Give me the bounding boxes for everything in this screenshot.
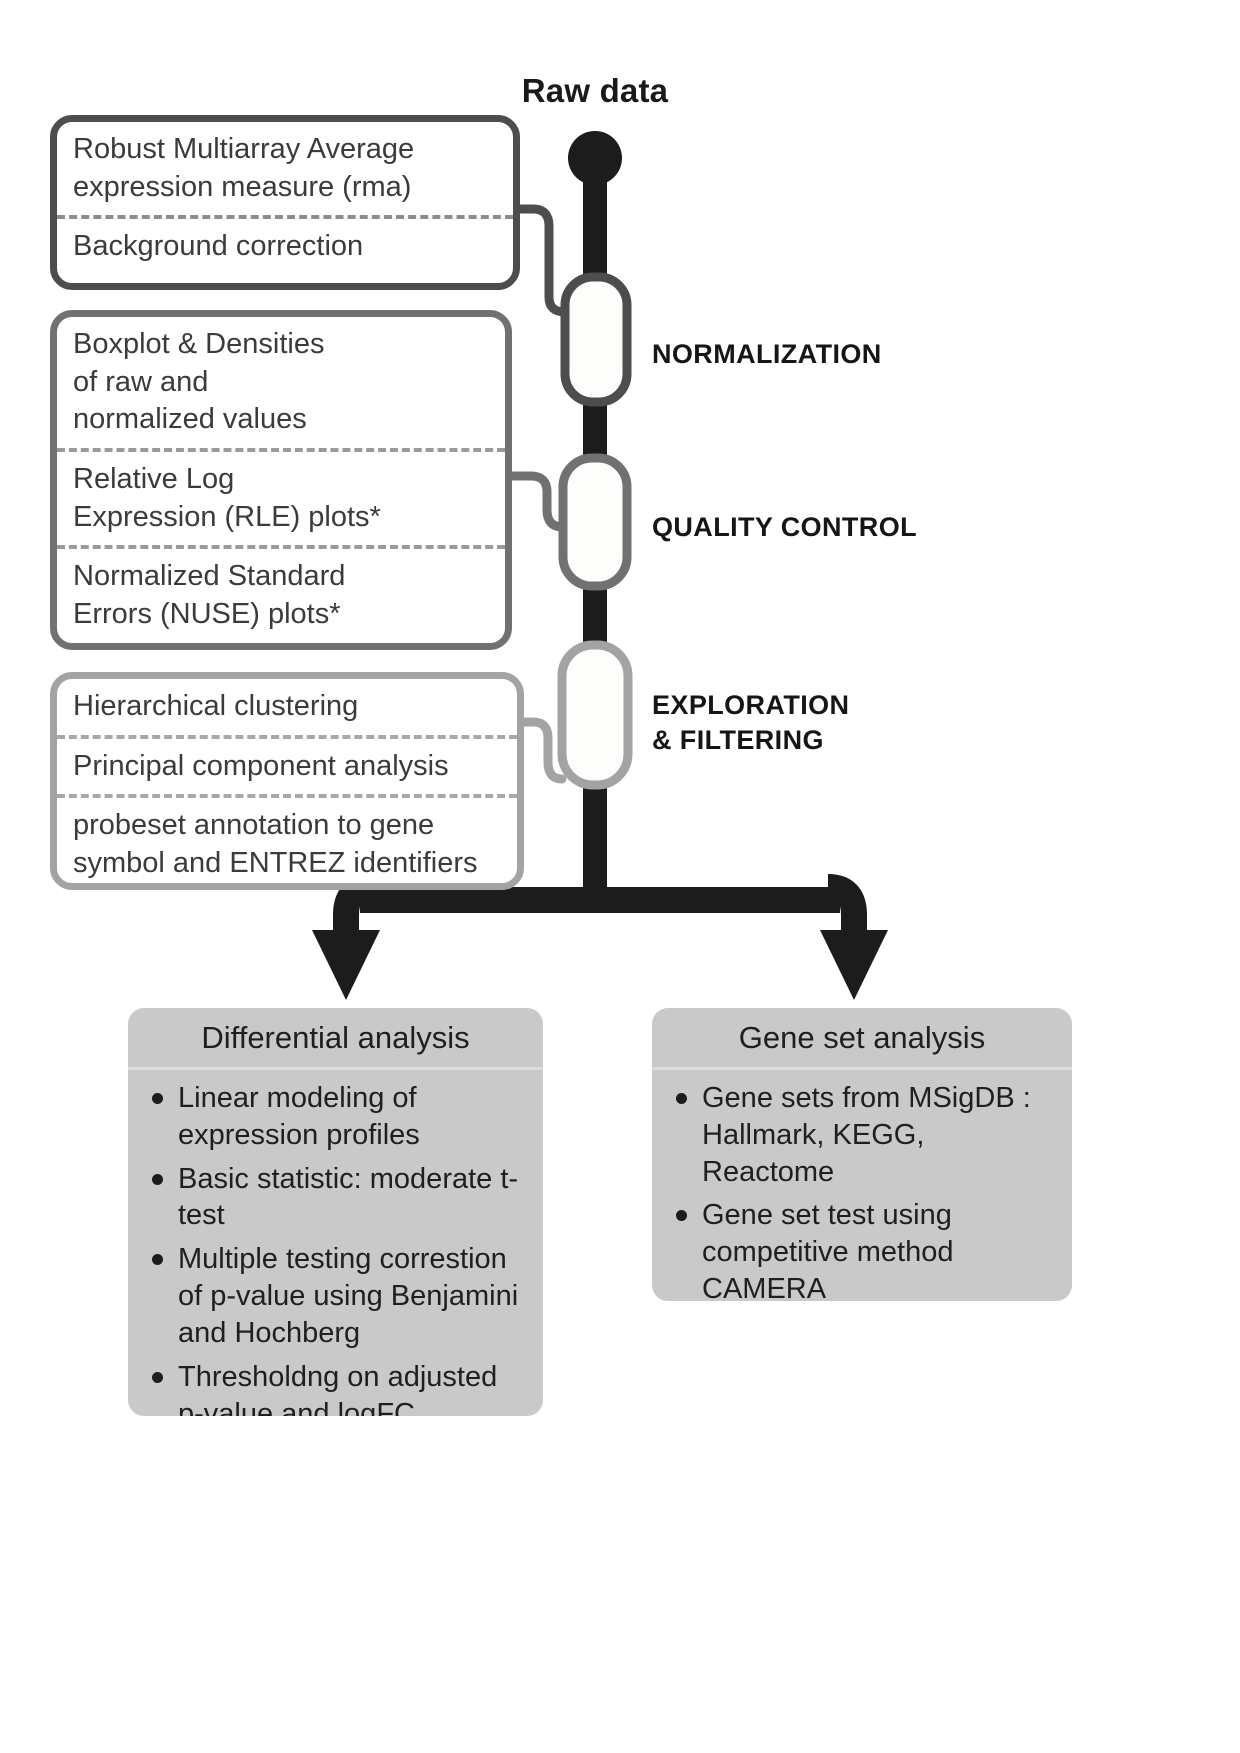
detail-row-background-correction: Background correction: [57, 215, 513, 275]
list-item-text: Multiple testing correstion of p-value u…: [178, 1241, 527, 1351]
bullet-icon: [152, 1254, 163, 1265]
list-item-text: Gene sets from MSigDB : Hallmark, KEGG, …: [702, 1080, 1056, 1190]
detail-row-nuse-line1: Normalized Standard: [73, 558, 491, 596]
connector-exploration: [520, 722, 562, 779]
list-item-text: Gene set test using competitive method C…: [702, 1197, 1056, 1301]
detail-row-pca: Principal component analysis: [57, 735, 517, 795]
detail-row-probeset-annotation: probeset annotation to gene symbol and E…: [57, 794, 517, 891]
connector-quality-control: [512, 476, 563, 527]
detail-box-quality-control: Boxplot & Densities of raw and normalize…: [50, 310, 512, 650]
detail-row-boxplot-line1: Boxplot & Densities: [73, 326, 491, 364]
bullet-icon: [676, 1093, 687, 1104]
list-item-text: Linear modeling of expression profiles: [178, 1080, 527, 1154]
detail-row-nuse-plots: Normalized Standard Errors (NUSE) plots*: [57, 545, 505, 642]
bullet-icon: [152, 1093, 163, 1104]
detail-row-rma: Robust Multiarray Average expression mea…: [57, 122, 513, 215]
detail-row-rle-line2: Expression (RLE) plots*: [73, 499, 491, 537]
arrow-head-differential: [312, 930, 380, 1000]
detail-row-rle-plots: Relative Log Expression (RLE) plots*: [57, 448, 505, 545]
detail-row-probeset-line2: symbol and ENTREZ identifiers: [73, 845, 503, 883]
list-item: Gene sets from MSigDB : Hallmark, KEGG, …: [672, 1080, 1056, 1190]
result-panel-geneset-title: Gene set analysis: [652, 1008, 1072, 1070]
detail-row-background-correction-line1: Background correction: [73, 228, 499, 266]
detail-row-hclust-line1: Hierarchical clustering: [73, 688, 503, 726]
stage-capsule-normalization: [565, 277, 627, 402]
list-item: Linear modeling of expression profiles: [148, 1080, 527, 1154]
detail-row-rma-line1: Robust Multiarray Average: [73, 131, 499, 169]
stage-label-exploration-line2: & FILTERING: [652, 723, 849, 758]
result-panel-differential-analysis: Differential analysis Linear modeling of…: [128, 1008, 543, 1416]
differential-analysis-list: Linear modeling of expression profiles B…: [128, 1070, 543, 1416]
stage-label-quality-control: QUALITY CONTROL: [652, 510, 917, 545]
stage-label-exploration-filtering: EXPLORATION & FILTERING: [652, 688, 849, 757]
detail-row-boxplot-line3: normalized values: [73, 401, 491, 439]
detail-row-boxplot-densities: Boxplot & Densities of raw and normalize…: [57, 317, 505, 448]
detail-row-probeset-line1: probeset annotation to gene: [73, 807, 503, 845]
detail-row-hierarchical-clustering: Hierarchical clustering: [57, 679, 517, 735]
list-item-text: Basic statistic: moderate t-test: [178, 1161, 527, 1235]
detail-row-pca-line1: Principal component analysis: [73, 748, 503, 786]
workflow-diagram: Raw data Robust Multiarray Average: [0, 0, 1240, 1753]
list-item: Multiple testing correstion of p-value u…: [148, 1241, 527, 1351]
gene-set-analysis-list: Gene sets from MSigDB : Hallmark, KEGG, …: [652, 1070, 1072, 1301]
bullet-icon: [676, 1210, 687, 1221]
stage-capsule-exploration: [562, 645, 628, 785]
detail-row-nuse-line2: Errors (NUSE) plots*: [73, 596, 491, 634]
detail-box-exploration: Hierarchical clustering Principal compon…: [50, 672, 524, 890]
stage-label-exploration-line1: EXPLORATION: [652, 688, 849, 723]
detail-row-rma-line2: expression measure (rma): [73, 169, 499, 207]
bullet-icon: [152, 1174, 163, 1185]
arrow-head-geneset: [820, 930, 888, 1000]
result-panel-gene-set-analysis: Gene set analysis Gene sets from MSigDB …: [652, 1008, 1072, 1301]
stage-label-normalization: NORMALIZATION: [652, 337, 882, 372]
stage-capsule-quality-control: [563, 458, 627, 586]
detail-row-rle-line1: Relative Log: [73, 461, 491, 499]
list-item: Gene set test using competitive method C…: [672, 1197, 1056, 1301]
result-panel-differential-title: Differential analysis: [128, 1008, 543, 1070]
detail-box-normalization: Robust Multiarray Average expression mea…: [50, 115, 520, 290]
bullet-icon: [152, 1372, 163, 1383]
detail-row-boxplot-line2: of raw and: [73, 364, 491, 402]
list-item-text: Thresholdng on adjusted p-value and logF…: [178, 1359, 527, 1416]
list-item: Basic statistic: moderate t-test: [148, 1161, 527, 1235]
raw-data-node-dot: [568, 131, 622, 185]
list-item: Thresholdng on adjusted p-value and logF…: [148, 1359, 527, 1416]
